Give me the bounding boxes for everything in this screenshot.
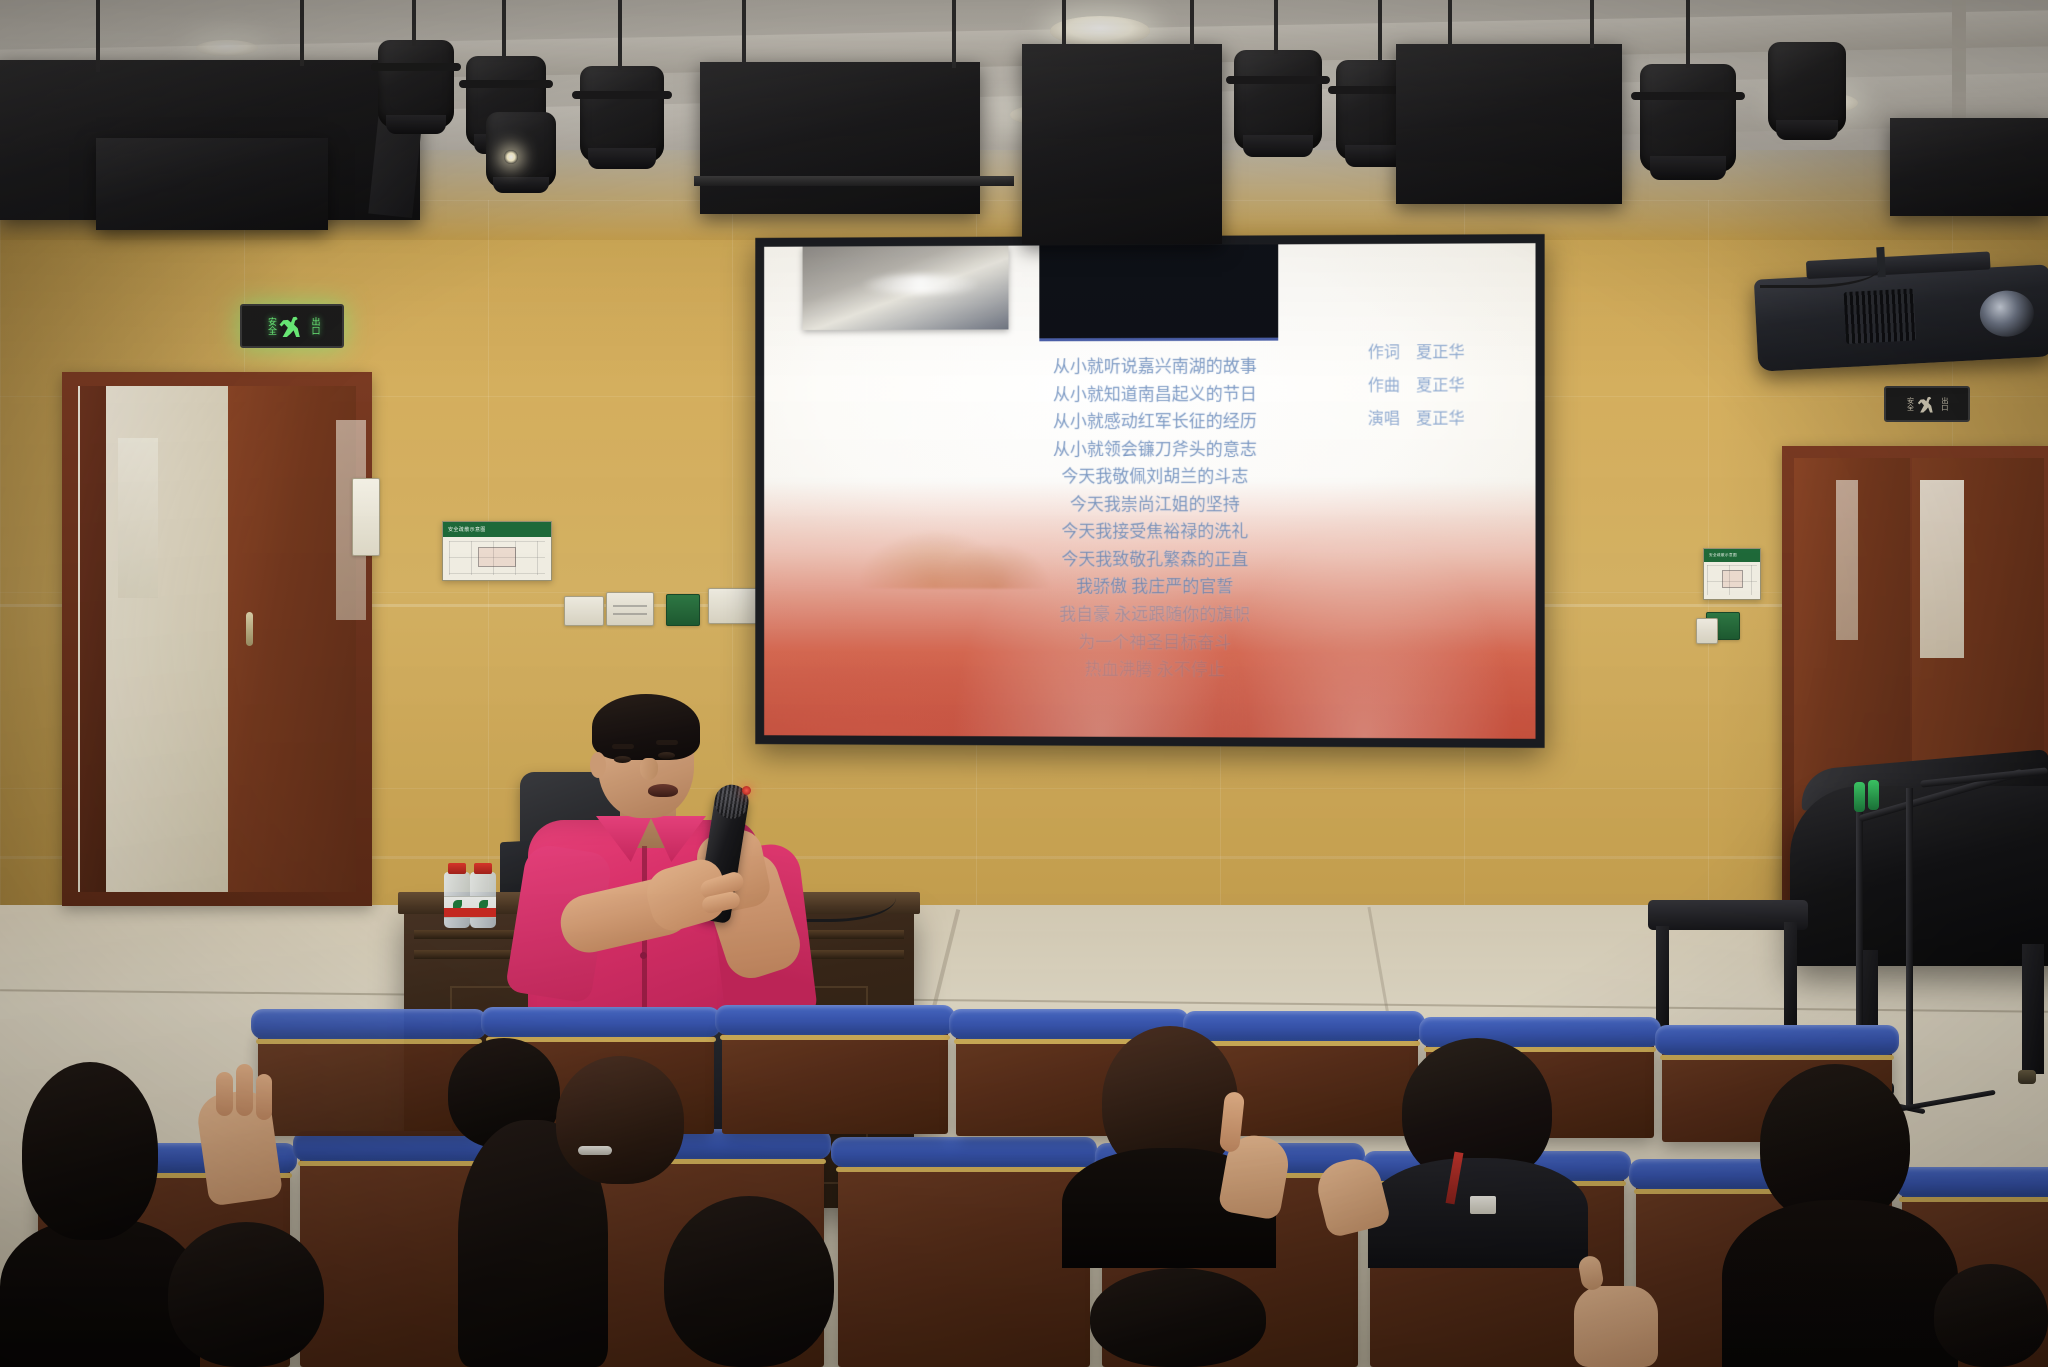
audience-thumbs-up-hand — [1574, 1286, 1658, 1367]
evacuation-plan-right: 安全疏散示意图 — [1703, 548, 1761, 600]
stage-light-barn-door — [96, 138, 328, 230]
lyric-line: 为一个神圣目标奋斗 — [978, 628, 1333, 657]
lyric-line: 今天我致敬孔繁森的正直 — [978, 546, 1333, 574]
stage-light-par — [1234, 50, 1322, 150]
credit-row: 演唱夏正华 — [1368, 404, 1481, 437]
par-lens — [493, 177, 549, 194]
rigging-rod — [1448, 0, 1452, 48]
credit-role: 作词 — [1368, 345, 1400, 362]
panel-line — [613, 613, 648, 615]
exit-sign-label-left: 安全 — [1906, 397, 1913, 411]
stage-light-housing-center — [700, 62, 980, 214]
rigging-rod — [742, 0, 746, 68]
stage-light-par — [378, 40, 454, 128]
seat-cushion — [715, 1005, 955, 1035]
auditorium-seat[interactable] — [258, 1028, 480, 1136]
microphone-led-icon — [742, 786, 751, 795]
stage-light-par — [486, 112, 556, 188]
rigging-rod — [1590, 0, 1594, 48]
bench-leg — [1656, 926, 1669, 1030]
evacuation-plan-title: 安全疏散示意图 — [1704, 553, 1737, 558]
piano-caster — [2018, 1070, 2036, 1084]
wall-control-panel-3[interactable] — [564, 596, 604, 626]
credit-row: 作曲夏正华 — [1368, 371, 1481, 404]
presenter-ear — [590, 752, 606, 778]
grand-piano — [1790, 786, 2048, 966]
auditorium-seat[interactable] — [838, 1156, 1090, 1367]
rigging-rod — [412, 0, 416, 46]
stage-light-par — [1640, 64, 1736, 172]
rigging-rod — [1274, 0, 1278, 54]
exit-sign-unlit: 安全 出口 — [1884, 386, 1970, 422]
door-handle-left[interactable] — [246, 612, 253, 646]
rigging-rod — [502, 0, 506, 60]
slide-credits-block: 作词夏正华 作曲夏正华 演唱夏正华 — [1368, 337, 1481, 436]
water-bottle[interactable] — [470, 872, 496, 928]
microphone-capsule — [1868, 780, 1879, 810]
par-lens — [1776, 120, 1838, 140]
running-man-icon — [279, 315, 305, 337]
par-lens — [1243, 135, 1313, 157]
presenter-mouth — [648, 784, 678, 797]
evacuation-plan-header: 安全疏散示意图 — [1704, 549, 1760, 562]
rigging-rod — [1190, 0, 1194, 50]
seat-cushion — [1183, 1011, 1425, 1041]
projector-lens — [1979, 289, 2035, 338]
bench-leg — [1784, 922, 1797, 1026]
piano-leg — [2022, 944, 2044, 1074]
credit-role: 作曲 — [1368, 378, 1400, 395]
seat-cushion — [251, 1009, 487, 1039]
audience-finger — [256, 1074, 272, 1120]
credit-name: 夏正华 — [1416, 411, 1465, 428]
exit-sign-label-right: 出口 — [1941, 397, 1948, 411]
auditorium-seat[interactable] — [722, 1024, 948, 1134]
ceiling-downlight — [196, 40, 258, 56]
microphone-stand-floor[interactable] — [1906, 788, 1913, 1106]
seat-cushion — [831, 1137, 1097, 1167]
bottle-logo-icon — [453, 900, 462, 909]
lyric-line: 从小就感动红军长征的经历 — [978, 408, 1333, 436]
seat-cushion — [1655, 1025, 1899, 1055]
rigging-rod — [618, 0, 622, 70]
light-yoke — [1226, 76, 1330, 84]
panel-line — [613, 605, 648, 607]
wall-control-panel[interactable] — [606, 592, 654, 626]
evacuation-plan-header: 安全疏散示意图 — [443, 522, 551, 537]
light-yoke — [572, 91, 671, 99]
rigging-rod — [1378, 0, 1382, 62]
evacuation-plan-title: 安全疏散示意图 — [443, 526, 486, 533]
exit-sign-label-right: 出口 — [309, 317, 318, 335]
rigging-rod — [1062, 0, 1066, 50]
audience-finger — [236, 1064, 253, 1116]
wall-notice-left — [352, 478, 380, 556]
projector-vent — [1843, 288, 1916, 344]
lyric-line: 今天我接受焦裕禄的洗礼 — [978, 518, 1333, 546]
bottle-label — [444, 896, 470, 918]
screen-glare-reflection — [802, 246, 1008, 330]
door-window-right-b — [1920, 480, 1964, 658]
wall-socket-green[interactable] — [666, 594, 700, 626]
slide-lyrics-block: 从小就听说嘉兴南湖的故事 从小就知道南昌起义的节日 从小就感动红军长征的经历 从… — [978, 353, 1333, 685]
lyric-line: 从小就领会镰刀斧头的意志 — [978, 436, 1333, 464]
presenter-eyebrow — [656, 740, 678, 745]
credit-role: 演唱 — [1368, 411, 1400, 428]
shirt-button — [640, 952, 647, 959]
running-man-icon — [1918, 396, 1937, 413]
bottle-cap — [474, 863, 492, 874]
bottle-cap — [448, 863, 466, 874]
rigging-rod — [300, 0, 304, 66]
auditorium-photo: 安全 出口 安全 出口 安全疏散示意图 安全疏散示意图 — [0, 0, 2048, 1367]
presenter-nose — [640, 758, 658, 780]
lyric-line: 今天我崇尚江姐的坚持 — [978, 491, 1333, 519]
rigging-rod — [952, 0, 956, 68]
light-yoke — [1631, 92, 1744, 100]
bottle-logo-icon — [479, 900, 488, 909]
rigging-rod — [1686, 0, 1690, 68]
stage-light-housing-center-b — [1022, 44, 1222, 244]
light-yoke — [371, 63, 461, 71]
credit-name: 夏正华 — [1416, 345, 1465, 362]
projection-screen-surface: 从小就听说嘉兴南湖的故事 从小就知道南昌起义的节日 从小就感动红军长征的经历 从… — [764, 243, 1535, 739]
par-lens — [588, 148, 655, 169]
projection-screen: 从小就听说嘉兴南湖的故事 从小就知道南昌起义的节日 从小就感动红军长征的经历 从… — [755, 234, 1544, 748]
lyric-line: 今天我敬佩刘胡兰的斗志 — [978, 463, 1333, 491]
audience-head — [1934, 1264, 2048, 1367]
rigging-rod — [96, 0, 100, 72]
lyric-line: 从小就听说嘉兴南湖的故事 — [978, 353, 1333, 381]
stage-light-lamp-glow — [504, 150, 518, 164]
lyric-line: 我骄傲 我庄严的官誓 — [978, 573, 1333, 601]
stage-light-housing-far-right — [1890, 118, 2048, 216]
credit-row: 作词夏正华 — [1368, 337, 1481, 370]
seat-cushion — [1895, 1167, 2048, 1197]
audience-finger — [216, 1072, 233, 1116]
par-lens — [1650, 156, 1727, 180]
lyric-line: 从小就知道南昌起义的节日 — [978, 380, 1333, 408]
audience-head — [556, 1056, 684, 1184]
lyric-line: 热血沸腾 永不停止 — [978, 656, 1333, 685]
credit-name: 夏正华 — [1416, 378, 1465, 395]
light-yoke — [459, 80, 553, 88]
stage-light-par — [1768, 42, 1846, 134]
rigging-truss — [694, 176, 1014, 186]
evacuation-plan-left: 安全疏散示意图 — [442, 521, 552, 581]
audience-head — [664, 1196, 834, 1367]
stage-light-housing-right — [1396, 44, 1622, 204]
rigging-rod — [1952, 0, 1966, 124]
audience-head — [22, 1062, 158, 1240]
wall-control-panel-right[interactable] — [1696, 618, 1718, 644]
evacuation-plan-map — [449, 541, 544, 576]
evacuation-plan-map — [1707, 565, 1756, 595]
presenter-eye — [614, 756, 631, 763]
water-bottle[interactable] — [444, 872, 470, 928]
door-window-left-inner — [118, 438, 158, 598]
audience-shoulders — [1722, 1200, 1958, 1367]
stage-light-par — [580, 66, 664, 162]
microphone-capsule — [1854, 782, 1865, 812]
door-leaf-left-outer[interactable] — [80, 386, 106, 892]
exit-sign-label-left: 安全 — [266, 317, 275, 335]
presenter-eyebrow — [612, 744, 634, 749]
lyric-line: 我自豪 永远跟随你的旗帜 — [978, 601, 1333, 629]
par-lens — [386, 115, 447, 134]
presenter-eye — [658, 752, 675, 759]
audience-head — [1090, 1268, 1266, 1367]
hair-clip — [578, 1146, 612, 1155]
bottle-label — [470, 896, 496, 918]
id-badge — [1470, 1196, 1496, 1214]
exit-sign-illuminated: 安全 出口 — [240, 304, 344, 348]
presenter-hair — [592, 694, 700, 760]
seat-cushion — [481, 1007, 721, 1037]
door-window-right — [1836, 480, 1858, 640]
screen-dark-reflection — [1039, 243, 1278, 339]
audience-head — [168, 1222, 324, 1367]
